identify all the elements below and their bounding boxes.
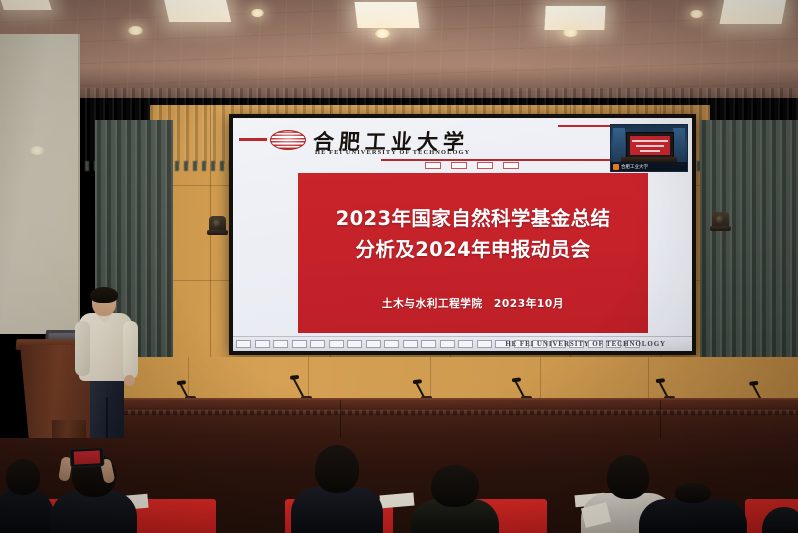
audience-member bbox=[410, 465, 500, 533]
side-wall-left bbox=[0, 34, 80, 334]
conference-hall-photo: 合肥工业大学 HE FEI UNIVERSITY OF TECHNOLOGY 2… bbox=[0, 0, 798, 533]
stage-front-panel bbox=[100, 357, 798, 402]
video-conference-overlay[interactable]: 合肥工业大学 ⚇ bbox=[610, 124, 688, 172]
slide-footer-text: HE FEI UNIVERSITY OF TECHNOLOGY bbox=[505, 340, 666, 348]
video-participant-label: 合肥工业大学 bbox=[621, 164, 648, 170]
audience-shoulders bbox=[291, 487, 383, 533]
presenter-arm-right bbox=[123, 321, 138, 379]
presenter-hand bbox=[124, 375, 135, 386]
audience-shoulders bbox=[51, 491, 137, 533]
audience-member-recording bbox=[50, 437, 138, 533]
university-name-en: HE FEI UNIVERSITY OF TECHNOLOGY bbox=[315, 149, 470, 156]
audience-head bbox=[675, 483, 711, 503]
audience-member bbox=[290, 441, 384, 533]
audience-shoulders bbox=[0, 489, 54, 533]
audience-head bbox=[6, 459, 40, 495]
ceiling-panel-light bbox=[354, 2, 419, 28]
presenter-hair bbox=[90, 287, 118, 303]
projection-screen-frame: 合肥工业大学 HE FEI UNIVERSITY OF TECHNOLOGY 2… bbox=[229, 114, 696, 355]
slide-content-block: 2023年国家自然科学基金总结 分析及2024年申报动员会 土木与水利工程学院 … bbox=[298, 173, 648, 333]
head-table-molding bbox=[100, 410, 798, 415]
ceiling-panel-light bbox=[0, 0, 52, 10]
ceiling-panel-light bbox=[719, 0, 786, 24]
video-avatar-icon bbox=[613, 164, 619, 170]
slide-title-line2: 分析及2024年申报动员会 bbox=[298, 234, 648, 265]
projection-screen: 合肥工业大学 HE FEI UNIVERSITY OF TECHNOLOGY 2… bbox=[233, 118, 692, 351]
audience-head bbox=[431, 465, 479, 507]
smartphone-screen[interactable] bbox=[70, 447, 105, 468]
audience-member bbox=[638, 485, 748, 533]
slide-title-line1: 2023年国家自然科学基金总结 bbox=[298, 203, 648, 234]
slide-subtitle: 土木与水利工程学院 2023年10月 bbox=[298, 296, 648, 311]
slide-deco-boxes bbox=[425, 162, 519, 169]
wall-spot-light bbox=[30, 146, 44, 155]
presenter-arm-left bbox=[75, 321, 90, 376]
audience-shoulders bbox=[762, 507, 798, 533]
audience-shoulders bbox=[639, 499, 747, 533]
ceiling-spot-light bbox=[690, 10, 703, 18]
video-room-slide bbox=[630, 136, 670, 155]
audience-head bbox=[315, 445, 359, 493]
ceiling-spot-light bbox=[563, 28, 578, 37]
wall-camera-right bbox=[712, 212, 729, 227]
wall-camera-left bbox=[209, 216, 226, 231]
ceiling-spot-light bbox=[251, 9, 264, 17]
ceiling-spot-light bbox=[128, 26, 143, 35]
slide-footer: HE FEI UNIVERSITY OF TECHNOLOGY bbox=[233, 336, 692, 351]
slide-title: 2023年国家自然科学基金总结 分析及2024年申报动员会 bbox=[298, 203, 648, 265]
ceiling-panel-light bbox=[163, 0, 231, 22]
ceiling bbox=[0, 0, 798, 98]
university-emblem-icon bbox=[270, 130, 306, 150]
video-participant-badge: 合肥工业大学 ⚇ bbox=[611, 162, 687, 171]
video-room-screen bbox=[626, 132, 674, 159]
audience-member bbox=[762, 497, 798, 533]
audience-member bbox=[0, 461, 54, 533]
ceiling-spot-light bbox=[375, 29, 390, 38]
audience-area bbox=[0, 438, 798, 533]
ceiling-panel-light bbox=[544, 6, 605, 30]
